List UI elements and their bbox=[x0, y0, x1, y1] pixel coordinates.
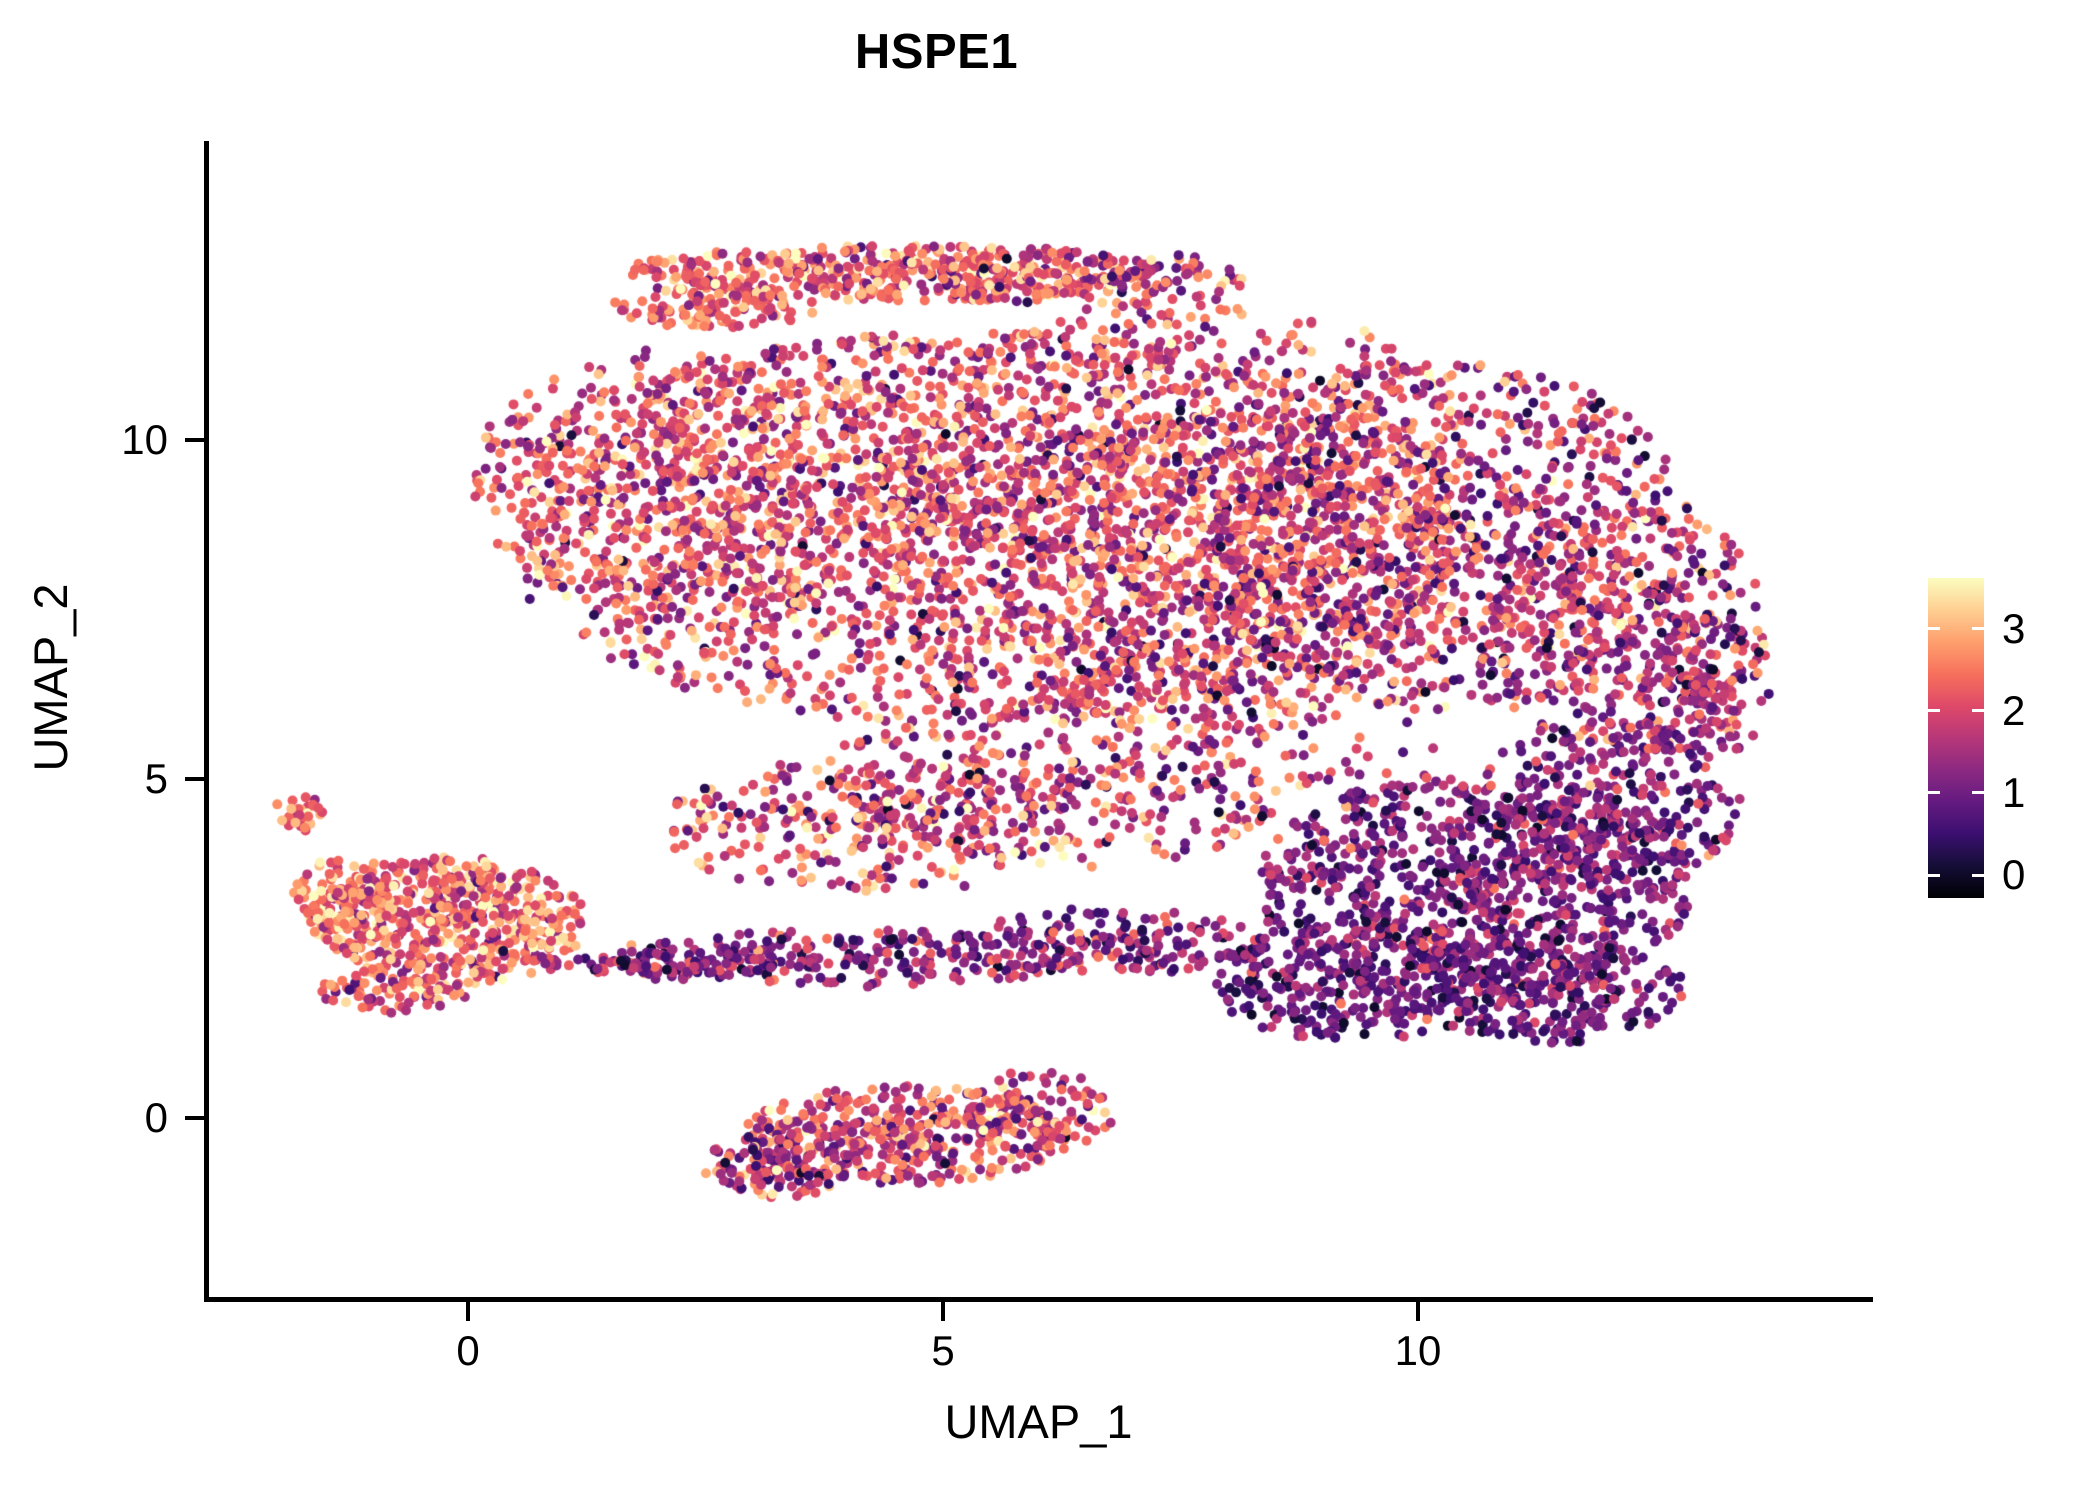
colorbar-tick-mark bbox=[1972, 791, 1984, 794]
x-axis-line bbox=[204, 1297, 1873, 1302]
y-tick-mark bbox=[185, 1116, 204, 1120]
colorbar-tick-mark bbox=[1928, 627, 1940, 630]
y-tick-mark bbox=[185, 438, 204, 442]
colorbar-legend bbox=[1928, 578, 1984, 898]
colorbar-tick-label: 2 bbox=[2002, 687, 2025, 735]
feature-plot-figure: HSPE1 0510 0510 UMAP_1 UMAP_2 0123 bbox=[0, 0, 2100, 1500]
y-axis-title: UMAP_2 bbox=[23, 97, 78, 1258]
plot-panel bbox=[204, 141, 1873, 1300]
colorbar-tick-label: 0 bbox=[2002, 851, 2025, 899]
x-tick-label: 10 bbox=[1395, 1327, 1442, 1375]
colorbar-gradient bbox=[1928, 578, 1984, 898]
x-tick-mark bbox=[941, 1302, 945, 1321]
colorbar-tick-mark bbox=[1928, 709, 1940, 712]
colorbar-tick-mark bbox=[1972, 709, 1984, 712]
colorbar-tick-mark bbox=[1928, 791, 1940, 794]
x-tick-mark bbox=[466, 1302, 470, 1321]
colorbar-tick-mark bbox=[1972, 627, 1984, 630]
colorbar-tick-mark bbox=[1928, 874, 1940, 877]
x-axis-title: UMAP_1 bbox=[204, 1394, 1873, 1449]
colorbar-tick-label: 3 bbox=[2002, 605, 2025, 653]
x-tick-mark bbox=[1416, 1302, 1420, 1321]
colorbar-tick-label: 1 bbox=[2002, 769, 2025, 817]
colorbar-tick-mark bbox=[1972, 874, 1984, 877]
y-axis-line bbox=[204, 141, 209, 1302]
y-tick-mark bbox=[185, 777, 204, 781]
x-tick-label: 0 bbox=[456, 1327, 479, 1375]
x-tick-label: 5 bbox=[931, 1327, 954, 1375]
scatter-points-canvas bbox=[204, 141, 1873, 1300]
page-title: HSPE1 bbox=[0, 24, 1873, 80]
